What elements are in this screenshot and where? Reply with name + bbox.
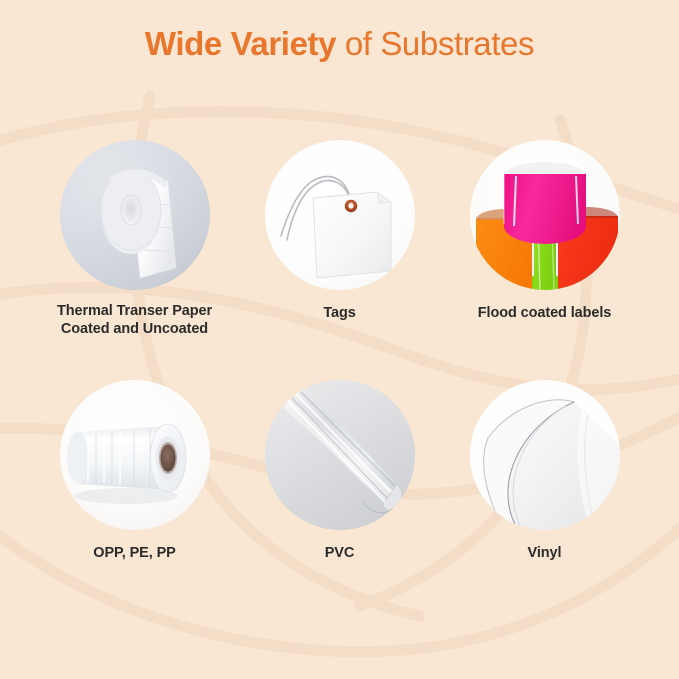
substrate-item-vinyl[interactable]: Vinyl [442,380,647,562]
title-regular-part: of Substrates [336,25,534,62]
clear-vinyl-sheet-icon [470,380,620,530]
tags-disc [265,140,415,290]
pvc-label: PVC [325,544,355,562]
substrate-item-pvc[interactable]: PVC [237,380,442,562]
substrate-row-1: Thermal Transer Paper Coated and Uncoate… [0,140,679,380]
thermal-transfer-paper-disc [60,140,210,290]
tags-label: Tags [323,304,355,322]
substrate-item-flood-coated-labels[interactable]: Flood coated labels [442,140,647,322]
flood-coated-labels-label: Flood coated labels [478,304,611,322]
tag-with-string-icon [265,140,415,290]
clear-film-roll-icon [60,380,210,530]
opp-pe-pp-label: OPP, PE, PP [93,544,175,562]
substrate-item-thermal-transfer-paper[interactable]: Thermal Transer Paper Coated and Uncoate… [32,140,237,338]
substrate-item-tags[interactable]: Tags [237,140,442,322]
vinyl-disc [470,380,620,530]
substrates-poster: Wide Variety of Substrates [0,0,679,679]
substrate-item-opp-pe-pp[interactable]: OPP, PE, PP [32,380,237,562]
title-bold-part: Wide Variety [145,25,336,62]
substrate-row-2: OPP, PE, PP [0,380,679,620]
opp-pe-pp-disc [60,380,210,530]
vinyl-label: Vinyl [528,544,562,562]
pvc-disc [265,380,415,530]
clear-pvc-sheet-icon [265,380,415,530]
flood-coated-labels-disc [470,140,620,290]
substrate-grid: Thermal Transer Paper Coated and Uncoate… [0,140,679,620]
thermal-transfer-paper-label: Thermal Transer Paper Coated and Uncoate… [57,302,212,338]
white-label-roll-icon [60,140,210,290]
page-title: Wide Variety of Substrates [0,26,679,62]
colored-label-rolls-icon [470,140,620,290]
